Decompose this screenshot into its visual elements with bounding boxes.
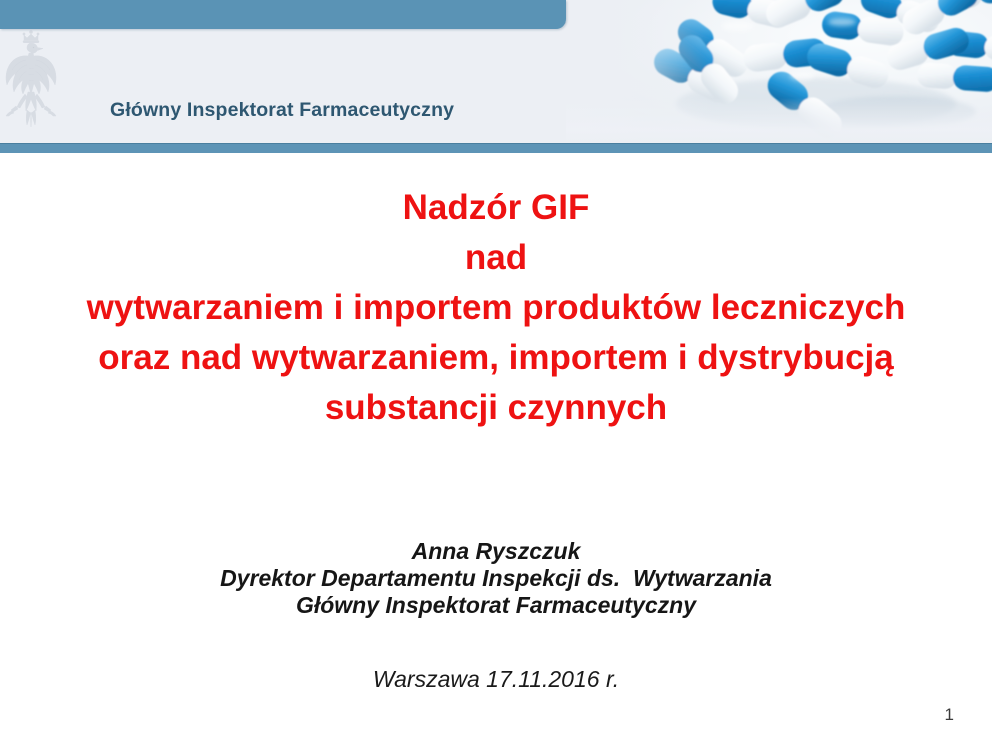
author-position: Dyrektor Departamentu Inspekcji ds. Wytw… [0, 565, 992, 592]
title-line: nad [0, 233, 992, 283]
title-line: oraz nad wytwarzaniem, importem i dystry… [0, 333, 992, 383]
presentation-slide: Główny Inspektorat Farmaceutyczny Nadzór… [0, 0, 992, 744]
author-organization: Główny Inspektorat Farmaceutyczny [0, 592, 992, 619]
header-accent-bar [0, 0, 566, 29]
blue-white-capsules-photo [566, 0, 992, 144]
slide-page-number: 1 [945, 705, 954, 725]
capsules-photo-inner [566, 0, 992, 144]
presentation-date: Warszawa 17.11.2016 r. [373, 666, 619, 693]
header-organization-name: Główny Inspektorat Farmaceutyczny [110, 99, 454, 122]
slide-header-banner: Główny Inspektorat Farmaceutyczny [0, 0, 992, 153]
title-line: Nadzór GIF [0, 183, 992, 233]
header-separator-bar [0, 144, 992, 153]
title-line: wytwarzaniem i importem produktów leczni… [0, 283, 992, 333]
polish-eagle-emblem [2, 28, 60, 140]
slide-title: Nadzór GIF nad wytwarzaniem i importem p… [0, 183, 992, 433]
title-line: substancji czynnych [0, 383, 992, 433]
slide-author-block: Anna Ryszczuk Dyrektor Departamentu Insp… [0, 538, 992, 619]
author-name: Anna Ryszczuk [0, 538, 992, 565]
slide-date-block: Warszawa 17.11.2016 r. [0, 666, 992, 693]
